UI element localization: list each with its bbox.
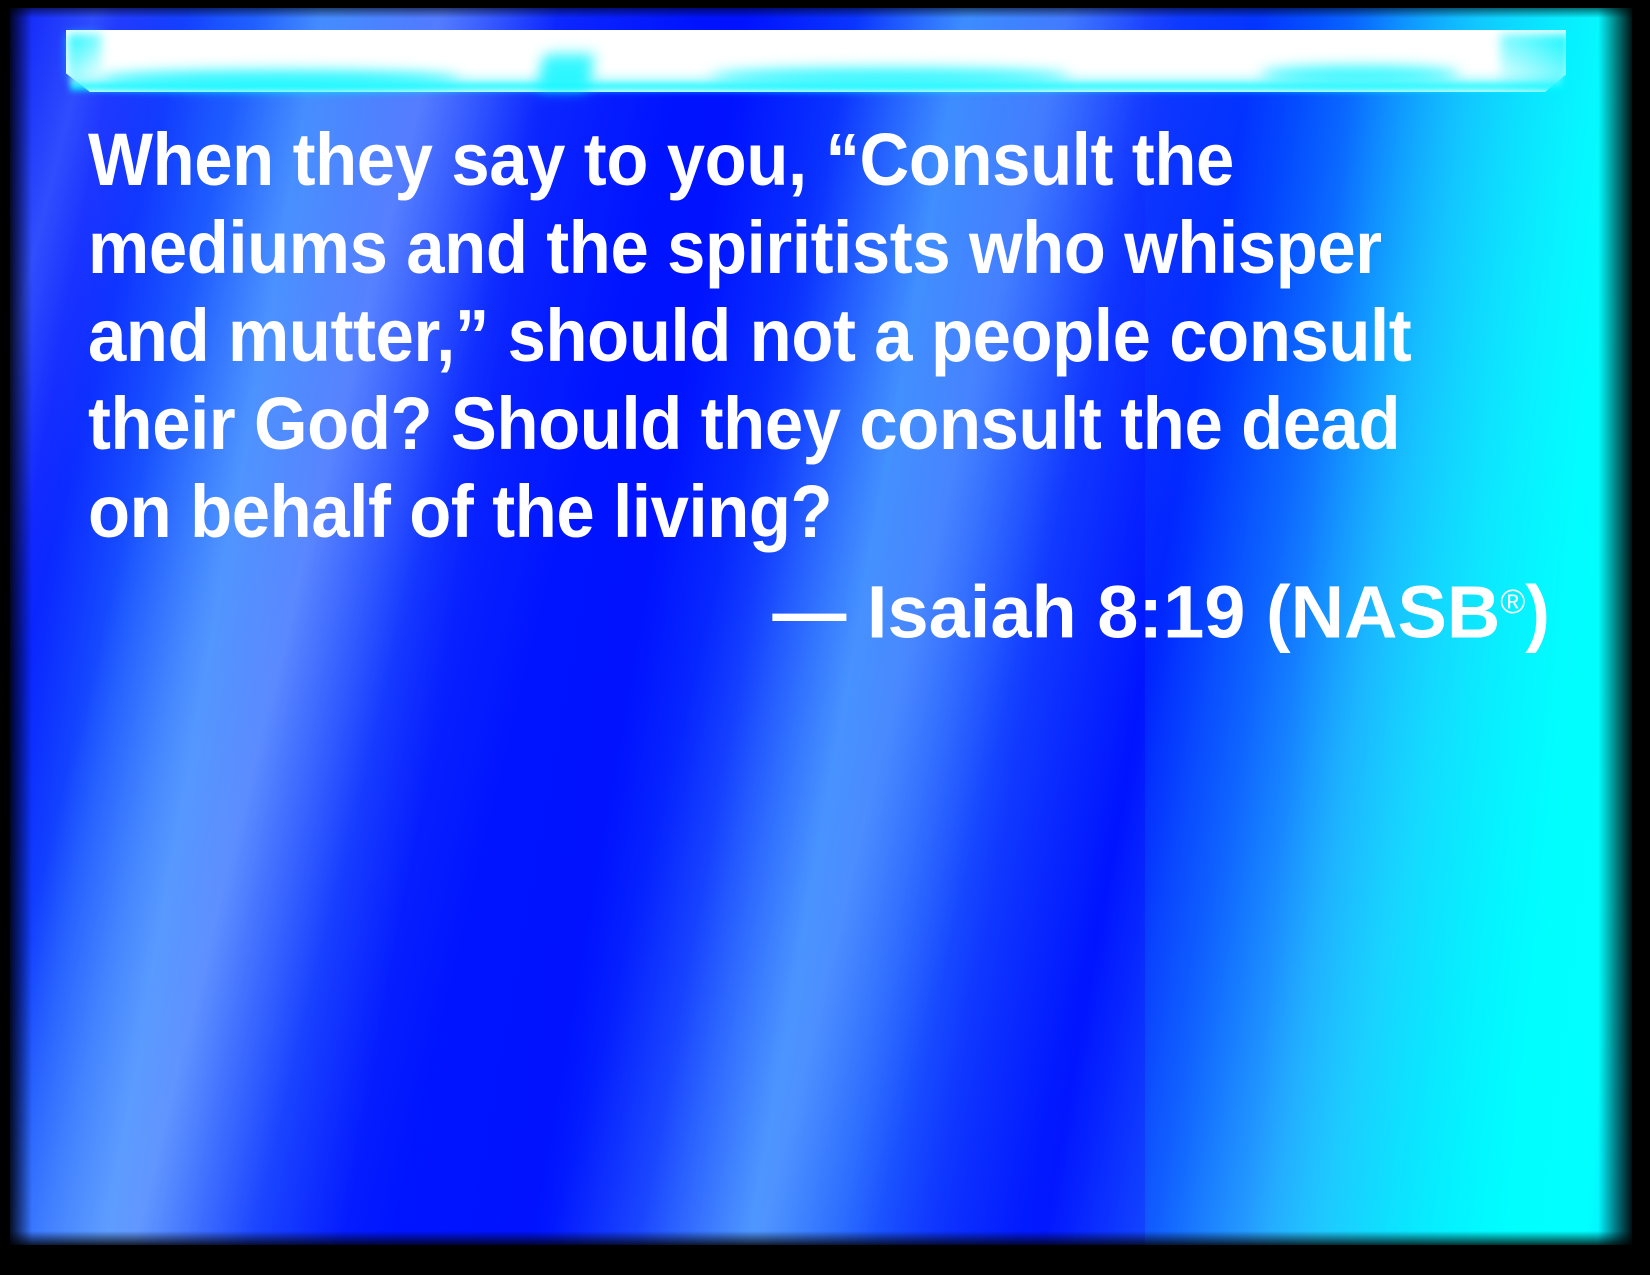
attribution-book: Isaiah: [867, 571, 1077, 654]
attribution-paren-close: ): [1525, 571, 1550, 654]
verse-line-2: mediums and the spiritists who whisper: [88, 204, 1455, 292]
attribution-reference: 8:19: [1097, 571, 1245, 654]
header-glow-blob-left: [100, 70, 460, 88]
slide-frame: When they say to you, “Consult the mediu…: [0, 0, 1650, 1275]
header-glow-corner-left: [68, 34, 102, 80]
attribution-translation: (NASB: [1266, 571, 1500, 654]
attribution-dash: —: [772, 571, 846, 654]
verse-line-4: their God? Should they consult the dead: [88, 380, 1455, 468]
verse-text-block: When they say to you, “Consult the mediu…: [88, 116, 1558, 657]
header-glow-blob-right: [1260, 66, 1460, 83]
slide-stage: When they say to you, “Consult the mediu…: [10, 8, 1632, 1245]
verse-line-1: When they say to you, “Consult the: [88, 116, 1455, 204]
header-glow-blob-center: [537, 54, 594, 90]
verse-line-5: on behalf of the living?: [88, 468, 1455, 556]
header-glow-blob-mid: [710, 68, 1070, 85]
header-glow-corner-right: [1500, 34, 1570, 92]
verse-attribution: — Isaiah 8:19 (NASB®): [88, 558, 1558, 657]
registered-trademark-icon: ®: [1500, 583, 1525, 621]
verse-line-3: and mutter,” should not a people consult: [88, 292, 1455, 380]
